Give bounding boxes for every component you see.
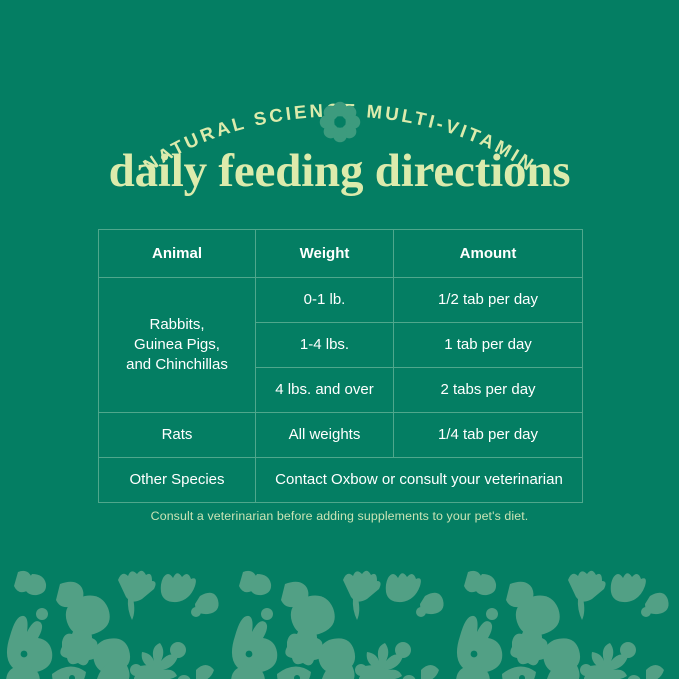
cell-animal-other: Other Species bbox=[99, 458, 256, 503]
animal-line: Guinea Pigs, bbox=[99, 335, 255, 355]
cell-weight: 1-4 lbs. bbox=[256, 323, 394, 368]
table-row: Rats All weights 1/4 tab per day bbox=[99, 413, 583, 458]
cell-weight: All weights bbox=[256, 413, 394, 458]
animal-line: Rabbits, bbox=[99, 315, 255, 335]
table-row: Rabbits, Guinea Pigs, and Chinchillas 0-… bbox=[99, 278, 583, 323]
table-row: Other Species Contact Oxbow or consult y… bbox=[99, 458, 583, 503]
column-header-weight: Weight bbox=[256, 230, 394, 278]
botanical-animal-pattern bbox=[0, 560, 679, 679]
cell-weight: 0-1 lb. bbox=[256, 278, 394, 323]
page-root: NATURAL SCIENCE MULTI-VITAMIN daily feed… bbox=[0, 0, 679, 679]
rosette-flower-icon bbox=[318, 100, 362, 144]
cell-weight: 4 lbs. and over bbox=[256, 368, 394, 413]
animal-line: and Chinchillas bbox=[99, 355, 255, 375]
cell-amount: 2 tabs per day bbox=[394, 368, 583, 413]
table-header-row: Animal Weight Amount bbox=[99, 230, 583, 278]
column-header-amount: Amount bbox=[394, 230, 583, 278]
feeding-directions-table: Animal Weight Amount Rabbits, Guinea Pig… bbox=[98, 229, 583, 503]
cell-animal-rats: Rats bbox=[99, 413, 256, 458]
feeding-table-container: Animal Weight Amount Rabbits, Guinea Pig… bbox=[98, 229, 582, 503]
cell-animal-rabbits: Rabbits, Guinea Pigs, and Chinchillas bbox=[99, 278, 256, 413]
page-title: daily feeding directions bbox=[0, 143, 679, 199]
cell-amount: 1/2 tab per day bbox=[394, 278, 583, 323]
column-header-animal: Animal bbox=[99, 230, 256, 278]
cell-other-species-note: Contact Oxbow or consult your veterinari… bbox=[256, 458, 583, 503]
cell-amount: 1/4 tab per day bbox=[394, 413, 583, 458]
cell-amount: 1 tab per day bbox=[394, 323, 583, 368]
footnote-text: Consult a veterinarian before adding sup… bbox=[0, 509, 679, 523]
